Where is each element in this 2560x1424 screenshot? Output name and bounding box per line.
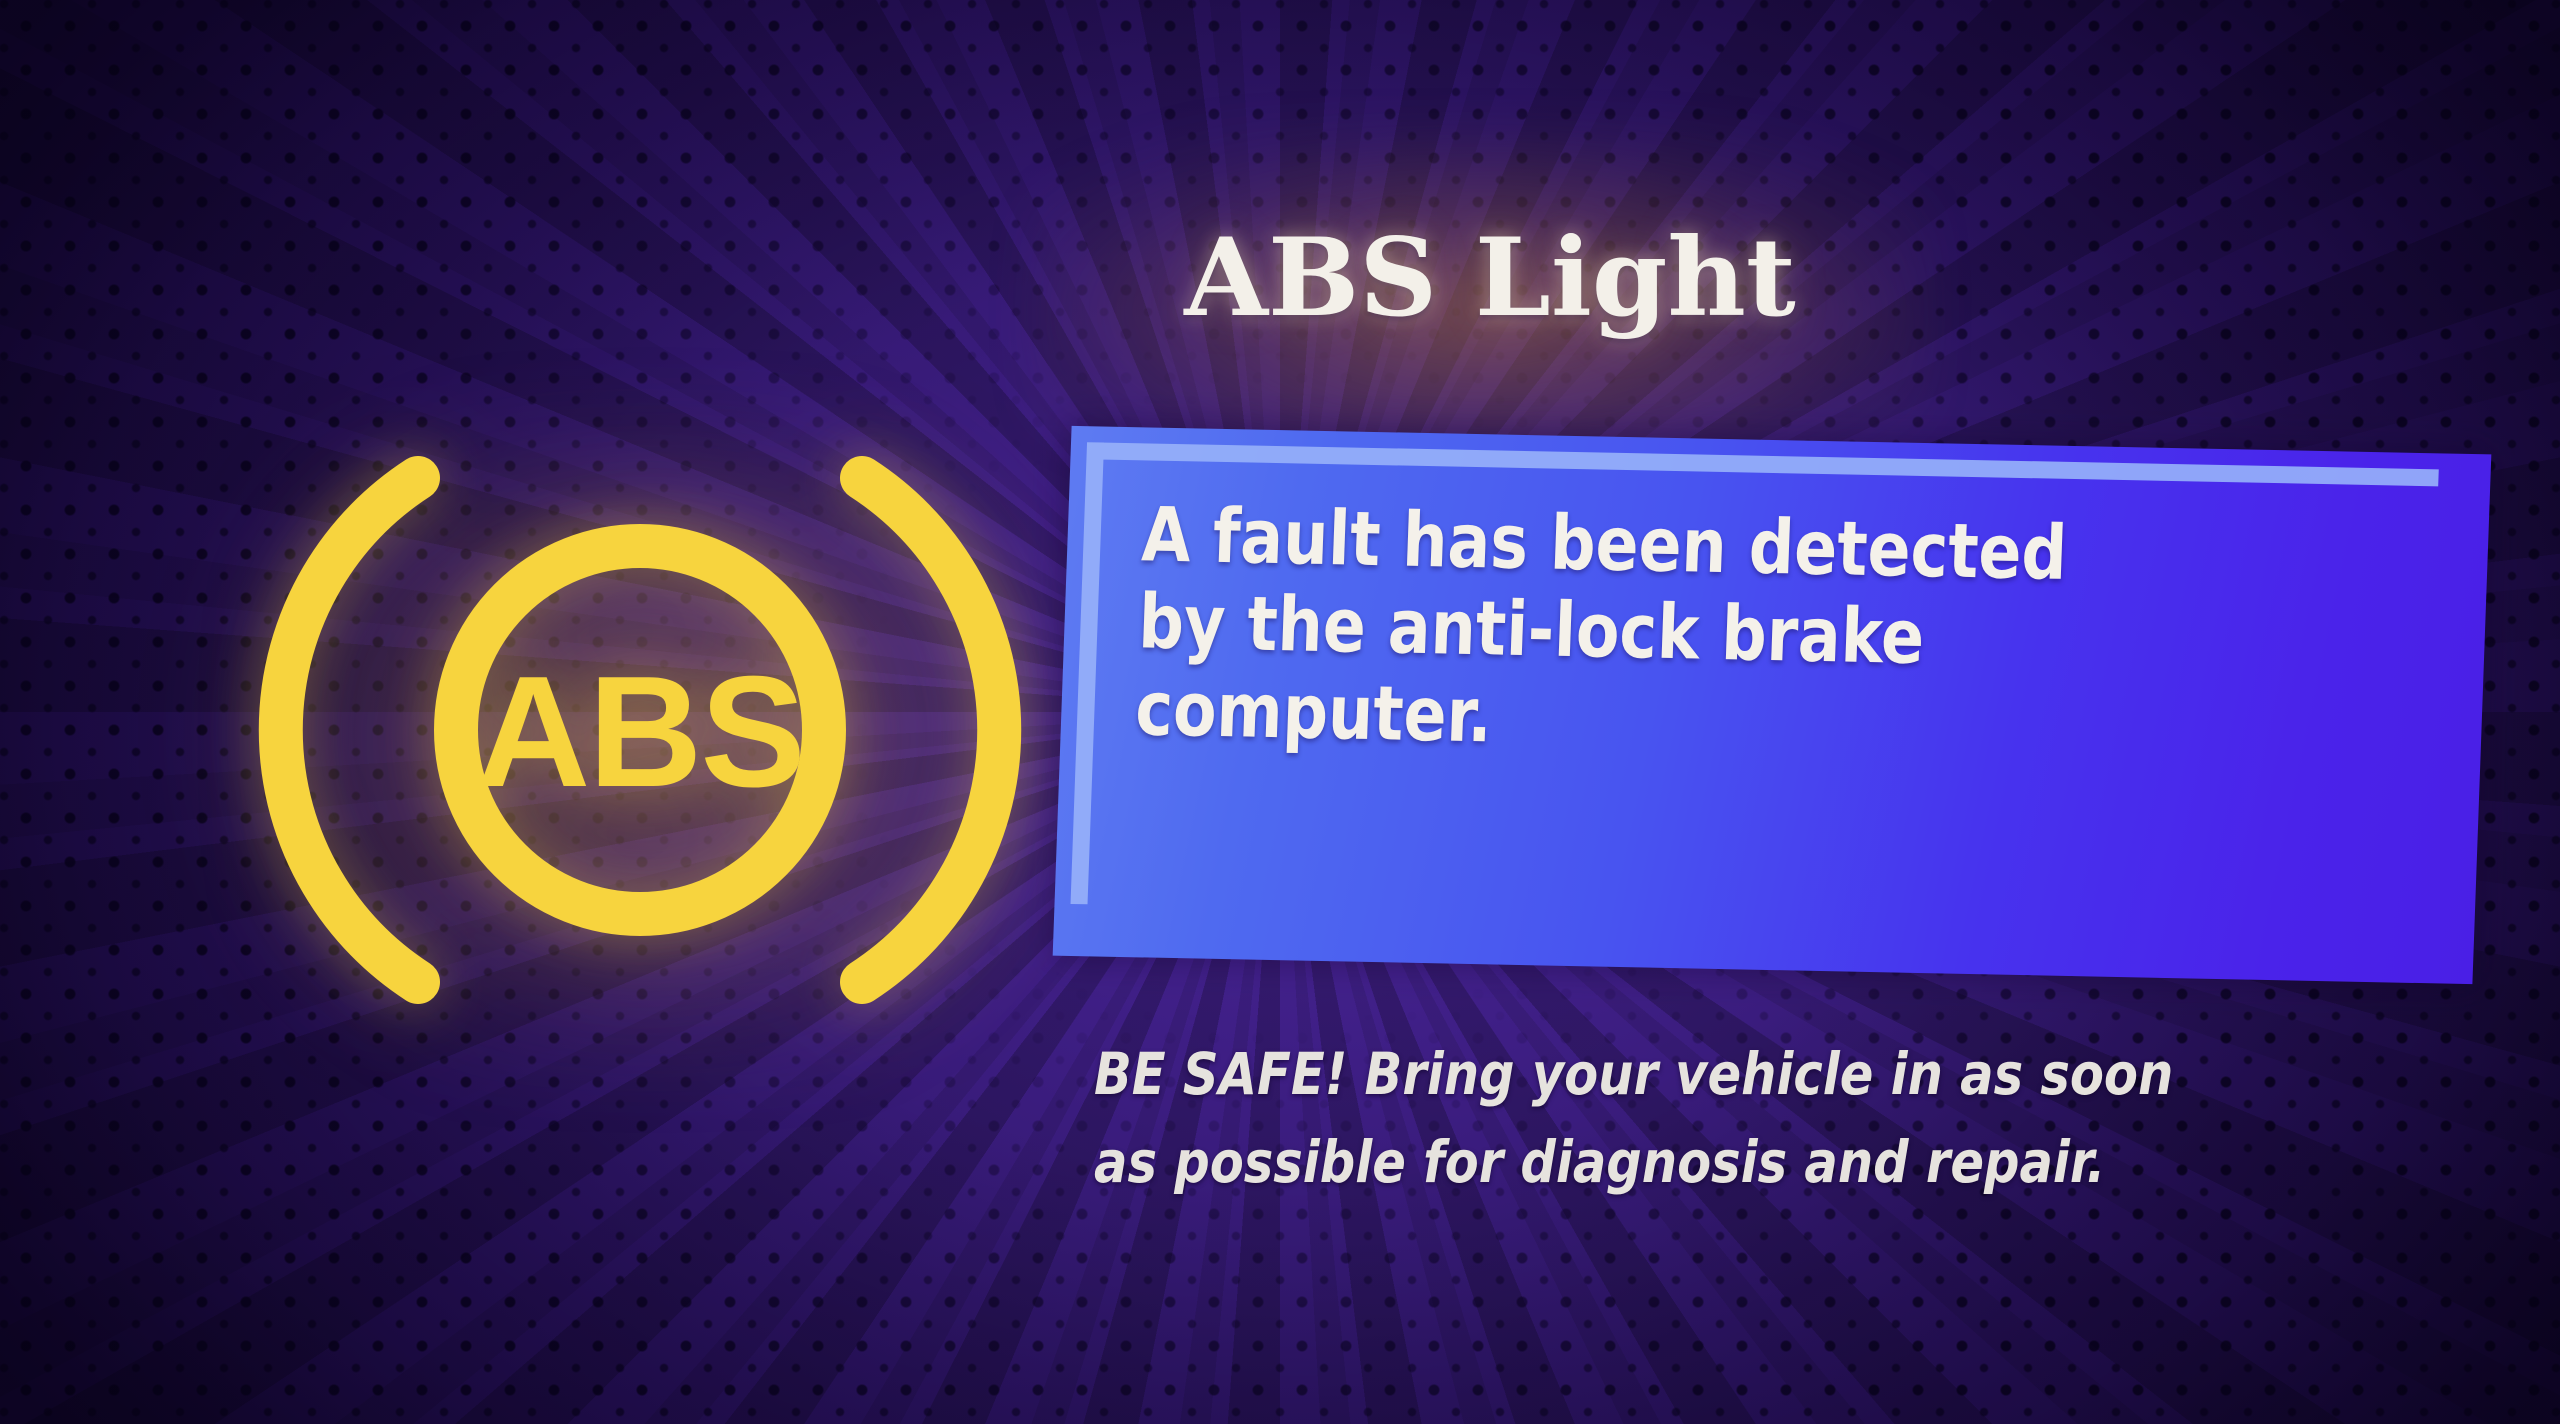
slide-canvas: ABS ABS Light A fault has been detected … xyxy=(0,0,2560,1424)
page-title: ABS Light xyxy=(1050,222,1930,335)
brake-arc-right-path xyxy=(862,478,999,982)
callout-body: A fault has been detected by the anti-lo… xyxy=(1053,426,2492,984)
slide-content: ABS ABS Light A fault has been detected … xyxy=(0,0,2560,1424)
safety-note: BE SAFE! Bring your vehicle in as soon a… xyxy=(1094,1030,2348,1206)
safety-note-line: as possible for diagnosis and repair. xyxy=(1094,1118,2348,1206)
safety-note-line: BE SAFE! Bring your vehicle in as soon xyxy=(1094,1030,2348,1118)
abs-icon-letters: ABS xyxy=(476,644,804,820)
callout-text: A fault has been detected by the anti-lo… xyxy=(1134,491,2354,776)
brake-arc-left-path xyxy=(281,478,418,982)
callout-panel: A fault has been detected by the anti-lo… xyxy=(1062,440,2482,970)
abs-warning-lamp-icon: ABS xyxy=(300,450,980,1010)
